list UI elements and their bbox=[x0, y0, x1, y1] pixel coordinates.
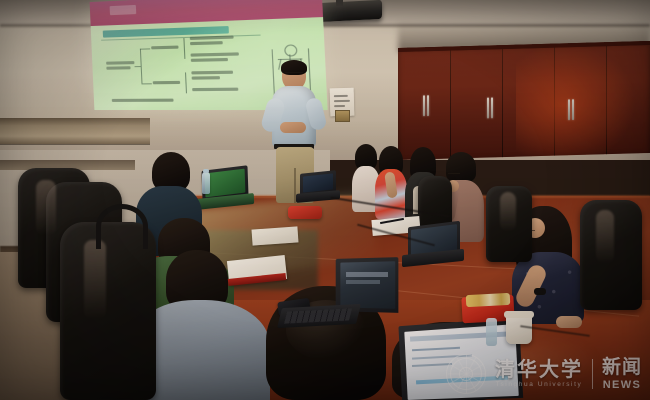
wall-control-panel[interactable] bbox=[335, 110, 350, 122]
water-bottle[interactable] bbox=[486, 318, 497, 346]
wall-cabinets[interactable] bbox=[398, 41, 650, 160]
chair-armrest[interactable] bbox=[96, 204, 148, 249]
snack-box-contents bbox=[466, 293, 511, 307]
photograph: 清华大学 Tsinghua University 新闻 NEWS bbox=[0, 0, 650, 400]
cabinet-handle-icon[interactable] bbox=[427, 95, 429, 116]
cabinet-warm-light bbox=[516, 41, 636, 156]
cabinet-door[interactable] bbox=[450, 49, 503, 158]
projector-mount bbox=[336, 0, 343, 6]
water-bottle-cap bbox=[203, 169, 209, 173]
cabinet-handle-icon[interactable] bbox=[423, 95, 425, 116]
cabinet-handle-icon[interactable] bbox=[487, 97, 489, 118]
notice-line bbox=[334, 95, 348, 97]
notice-line bbox=[334, 105, 345, 107]
presenter-hand bbox=[280, 122, 306, 133]
cabinet-handle-icon[interactable] bbox=[572, 99, 574, 120]
coffee-cup[interactable] bbox=[506, 314, 532, 344]
notebook[interactable] bbox=[251, 226, 298, 245]
notice-line bbox=[334, 100, 350, 102]
water-bottle[interactable] bbox=[202, 172, 210, 194]
red-item[interactable] bbox=[288, 206, 322, 219]
coffee-cup-lid bbox=[504, 311, 534, 318]
presenter-glasses-icon bbox=[285, 72, 303, 77]
slide-header-tab bbox=[110, 5, 137, 15]
cabinet-handle-icon[interactable] bbox=[568, 99, 570, 120]
cabinet-handle-icon[interactable] bbox=[491, 97, 493, 118]
wristwatch bbox=[534, 288, 546, 295]
